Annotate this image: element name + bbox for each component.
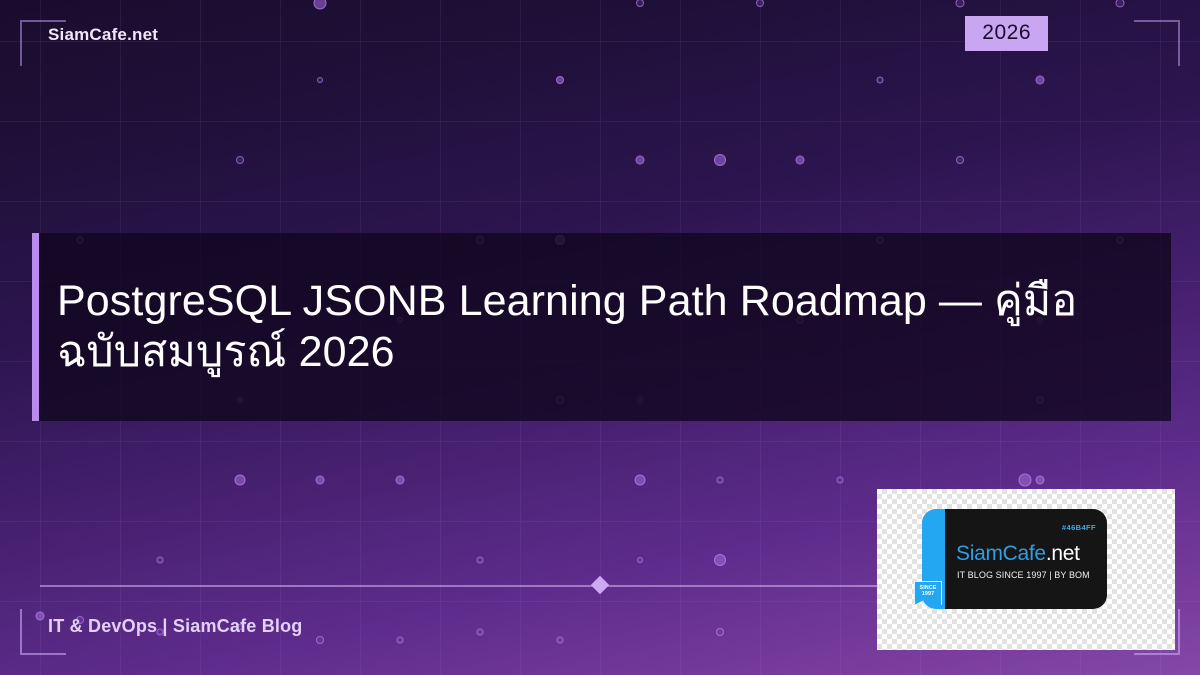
decor-dot-icon — [636, 156, 645, 165]
decor-dot-icon — [714, 554, 726, 566]
decor-dot-icon — [1036, 76, 1045, 85]
decor-dot-icon — [477, 629, 484, 636]
decor-dot-icon — [314, 0, 327, 10]
ribbon-since-label: SINCE — [920, 585, 937, 591]
slide-canvas: SiamCafe.net 2026 PostgreSQL JSONB Learn… — [0, 0, 1200, 675]
corner-bracket-top-right-icon — [1134, 20, 1180, 66]
year-badge: 2026 — [965, 16, 1048, 51]
hex-code-label: #46B4FF — [1062, 523, 1096, 532]
decor-dot-icon — [796, 156, 805, 165]
logo-wordmark: SiamCafe.net — [956, 542, 1080, 566]
ribbon-year-label: 1997 — [922, 591, 934, 597]
decor-dot-icon — [397, 637, 404, 644]
decor-dot-icon — [316, 476, 325, 485]
logo-body: #46B4FF SiamCafe.net IT BLOG SINCE 1997 … — [945, 509, 1107, 609]
logo-badge: SINCE 1997 #46B4FF SiamCafe.net IT BLOG … — [922, 509, 1107, 609]
logo-ribbon: SINCE 1997 — [922, 509, 945, 609]
title-panel: PostgreSQL JSONB Learning Path Roadmap —… — [32, 233, 1171, 421]
decor-dot-icon — [235, 475, 246, 486]
decor-dot-icon — [877, 77, 884, 84]
decor-dot-icon — [477, 557, 484, 564]
decor-dot-icon — [1019, 474, 1032, 487]
decor-dot-icon — [396, 476, 405, 485]
decor-dot-icon — [716, 628, 724, 636]
decor-dot-icon — [157, 557, 164, 564]
decor-dot-icon — [717, 477, 724, 484]
since-ribbon-badge: SINCE 1997 — [914, 581, 942, 606]
logo-card: SINCE 1997 #46B4FF SiamCafe.net IT BLOG … — [877, 489, 1175, 650]
decor-dot-icon — [556, 76, 564, 84]
decor-dot-icon — [756, 0, 764, 7]
logo-wordmark-primary: SiamCafe — [956, 542, 1046, 565]
decor-dot-icon — [1116, 0, 1125, 8]
decor-dot-icon — [36, 612, 45, 621]
site-name: SiamCafe.net — [48, 25, 158, 45]
decor-dot-icon — [956, 156, 964, 164]
logo-tagline: IT BLOG SINCE 1997 | BY BOM — [957, 570, 1090, 580]
decor-dot-icon — [714, 154, 726, 166]
decor-dot-icon — [837, 477, 844, 484]
decor-dot-icon — [636, 0, 644, 7]
logo-wordmark-suffix: .net — [1046, 542, 1080, 565]
decor-dot-icon — [236, 156, 244, 164]
decor-dot-icon — [637, 557, 643, 563]
decor-dot-icon — [956, 0, 965, 8]
decor-dot-icon — [1036, 476, 1045, 485]
diamond-marker-icon — [591, 576, 609, 594]
decor-dot-icon — [316, 636, 324, 644]
decor-dot-icon — [317, 77, 323, 83]
decor-dot-icon — [557, 637, 564, 644]
page-title: PostgreSQL JSONB Learning Path Roadmap —… — [32, 276, 1122, 378]
decor-dot-icon — [635, 475, 646, 486]
footer-caption: IT & DevOps | SiamCafe Blog — [48, 616, 303, 637]
accent-bar — [32, 233, 39, 421]
